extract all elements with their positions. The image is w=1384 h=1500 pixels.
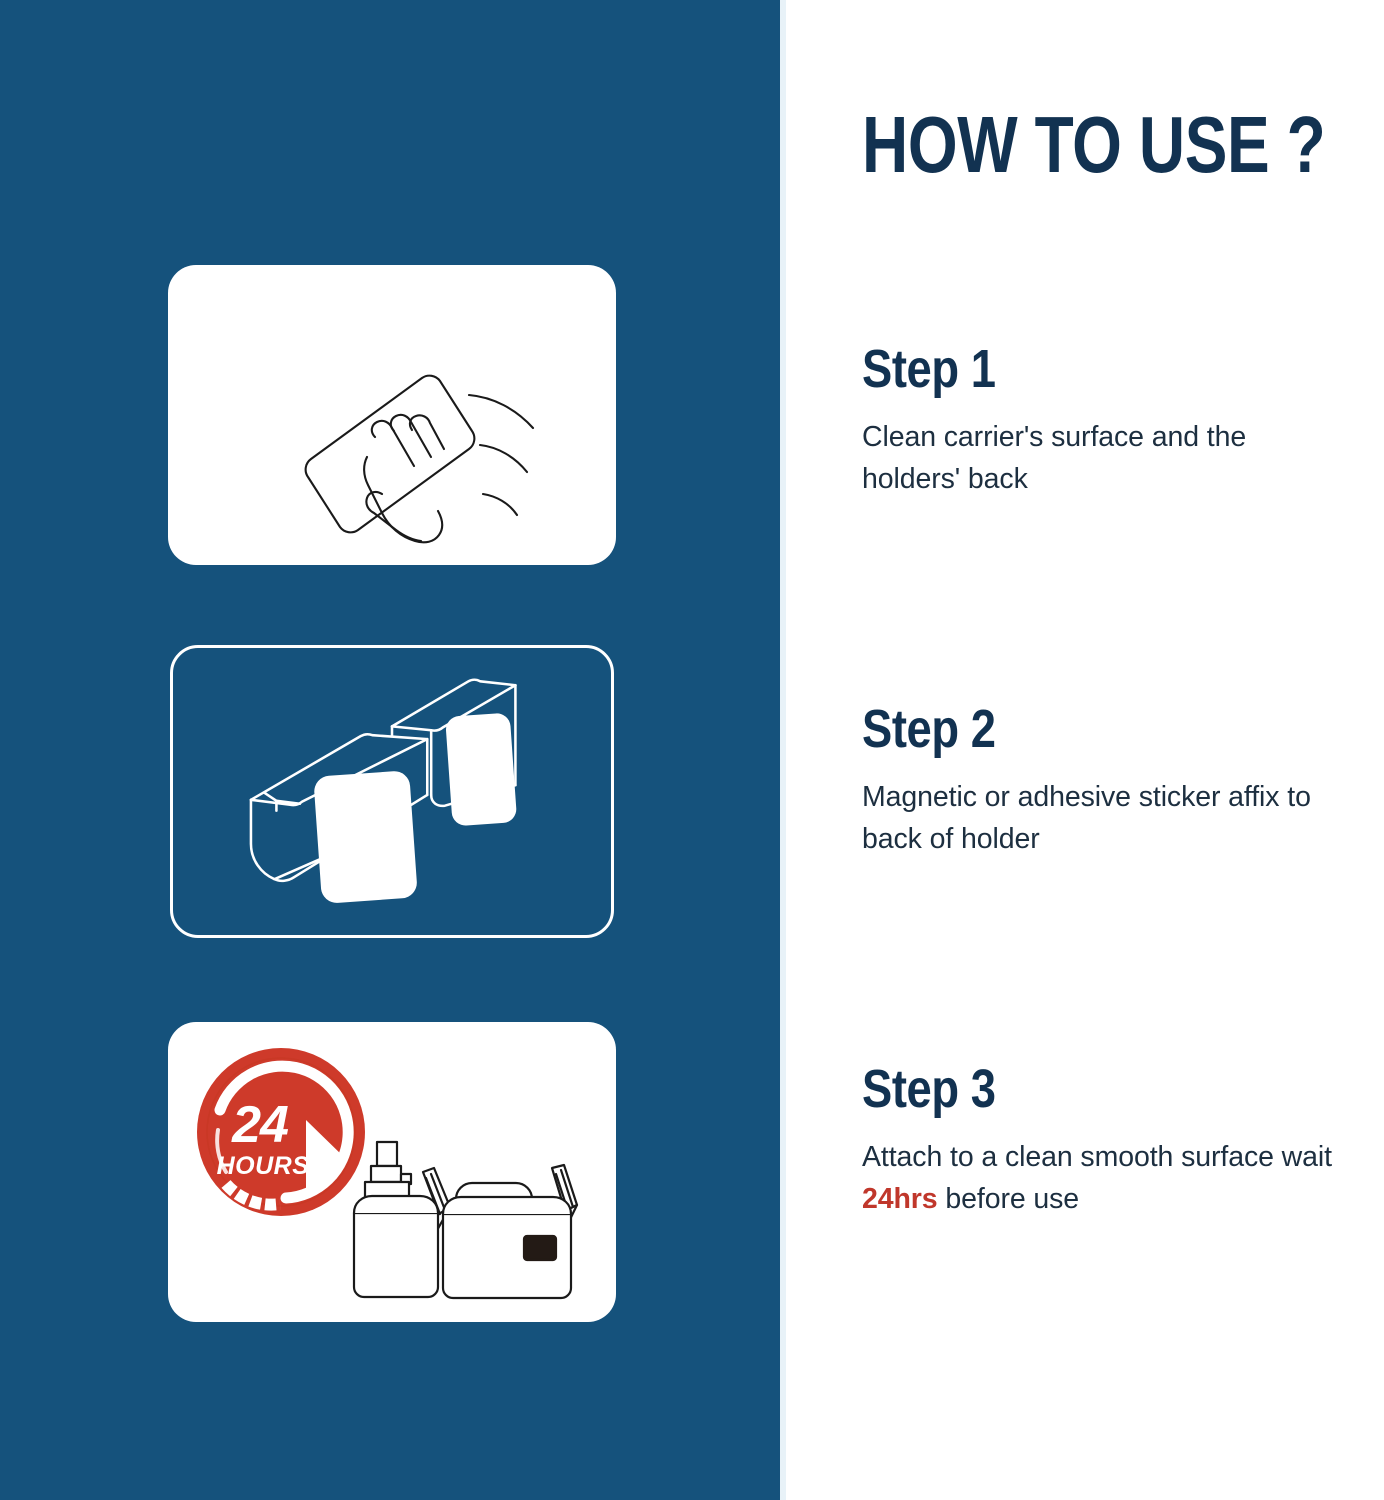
steps-text-column: HOW TO USE ? Step 1 Clean carrier's surf… — [862, 0, 1372, 1500]
step-1-illustration-card — [168, 265, 616, 565]
panel-divider — [780, 0, 786, 1500]
step-3-description-after: before use — [938, 1183, 1080, 1215]
step-1-heading: Step 1 — [862, 340, 1282, 398]
holders-with-adhesive-stickers-icon — [173, 648, 611, 935]
step-3-description: Attach to a clean smooth surface wait 24… — [862, 1136, 1332, 1220]
page-title: HOW TO USE ? — [862, 104, 1278, 186]
step-1-block: Step 1 Clean carrier's surface and the h… — [862, 340, 1362, 500]
step-3-illustration-card: 24 HOURS — [168, 1022, 616, 1322]
step-2-block: Step 2 Magnetic or adhesive sticker affi… — [862, 700, 1362, 860]
adhesive-sticker-back — [445, 712, 517, 826]
svg-text:24: 24 — [231, 1096, 289, 1154]
step-1-description: Clean carrier's surface and the holders'… — [862, 416, 1332, 500]
infographic-page: 24 HOURS — [0, 0, 1384, 1500]
wait-24-hours-icon: 24 HOURS — [168, 1022, 616, 1322]
wide-holder-illustration — [443, 1165, 577, 1298]
adhesive-sticker-front — [313, 770, 418, 904]
step-3-block: Step 3 Attach to a clean smooth surface … — [862, 1060, 1362, 1220]
step-2-description: Magnetic or adhesive sticker affix to ba… — [862, 776, 1332, 860]
hand-wiping-cloth-icon — [168, 265, 616, 565]
step-2-heading: Step 2 — [862, 700, 1282, 758]
dark-block — [524, 1236, 556, 1260]
step-3-description-before: Attach to a clean smooth surface wait — [862, 1141, 1332, 1173]
step-2-illustration-card — [170, 645, 614, 938]
24-hours-badge: 24 HOURS — [197, 1048, 365, 1216]
small-holder-illustration — [354, 1142, 450, 1297]
svg-text:HOURS: HOURS — [217, 1152, 310, 1180]
step-3-heading: Step 3 — [862, 1060, 1282, 1118]
step-3-duration-highlight: 24hrs — [862, 1183, 938, 1215]
